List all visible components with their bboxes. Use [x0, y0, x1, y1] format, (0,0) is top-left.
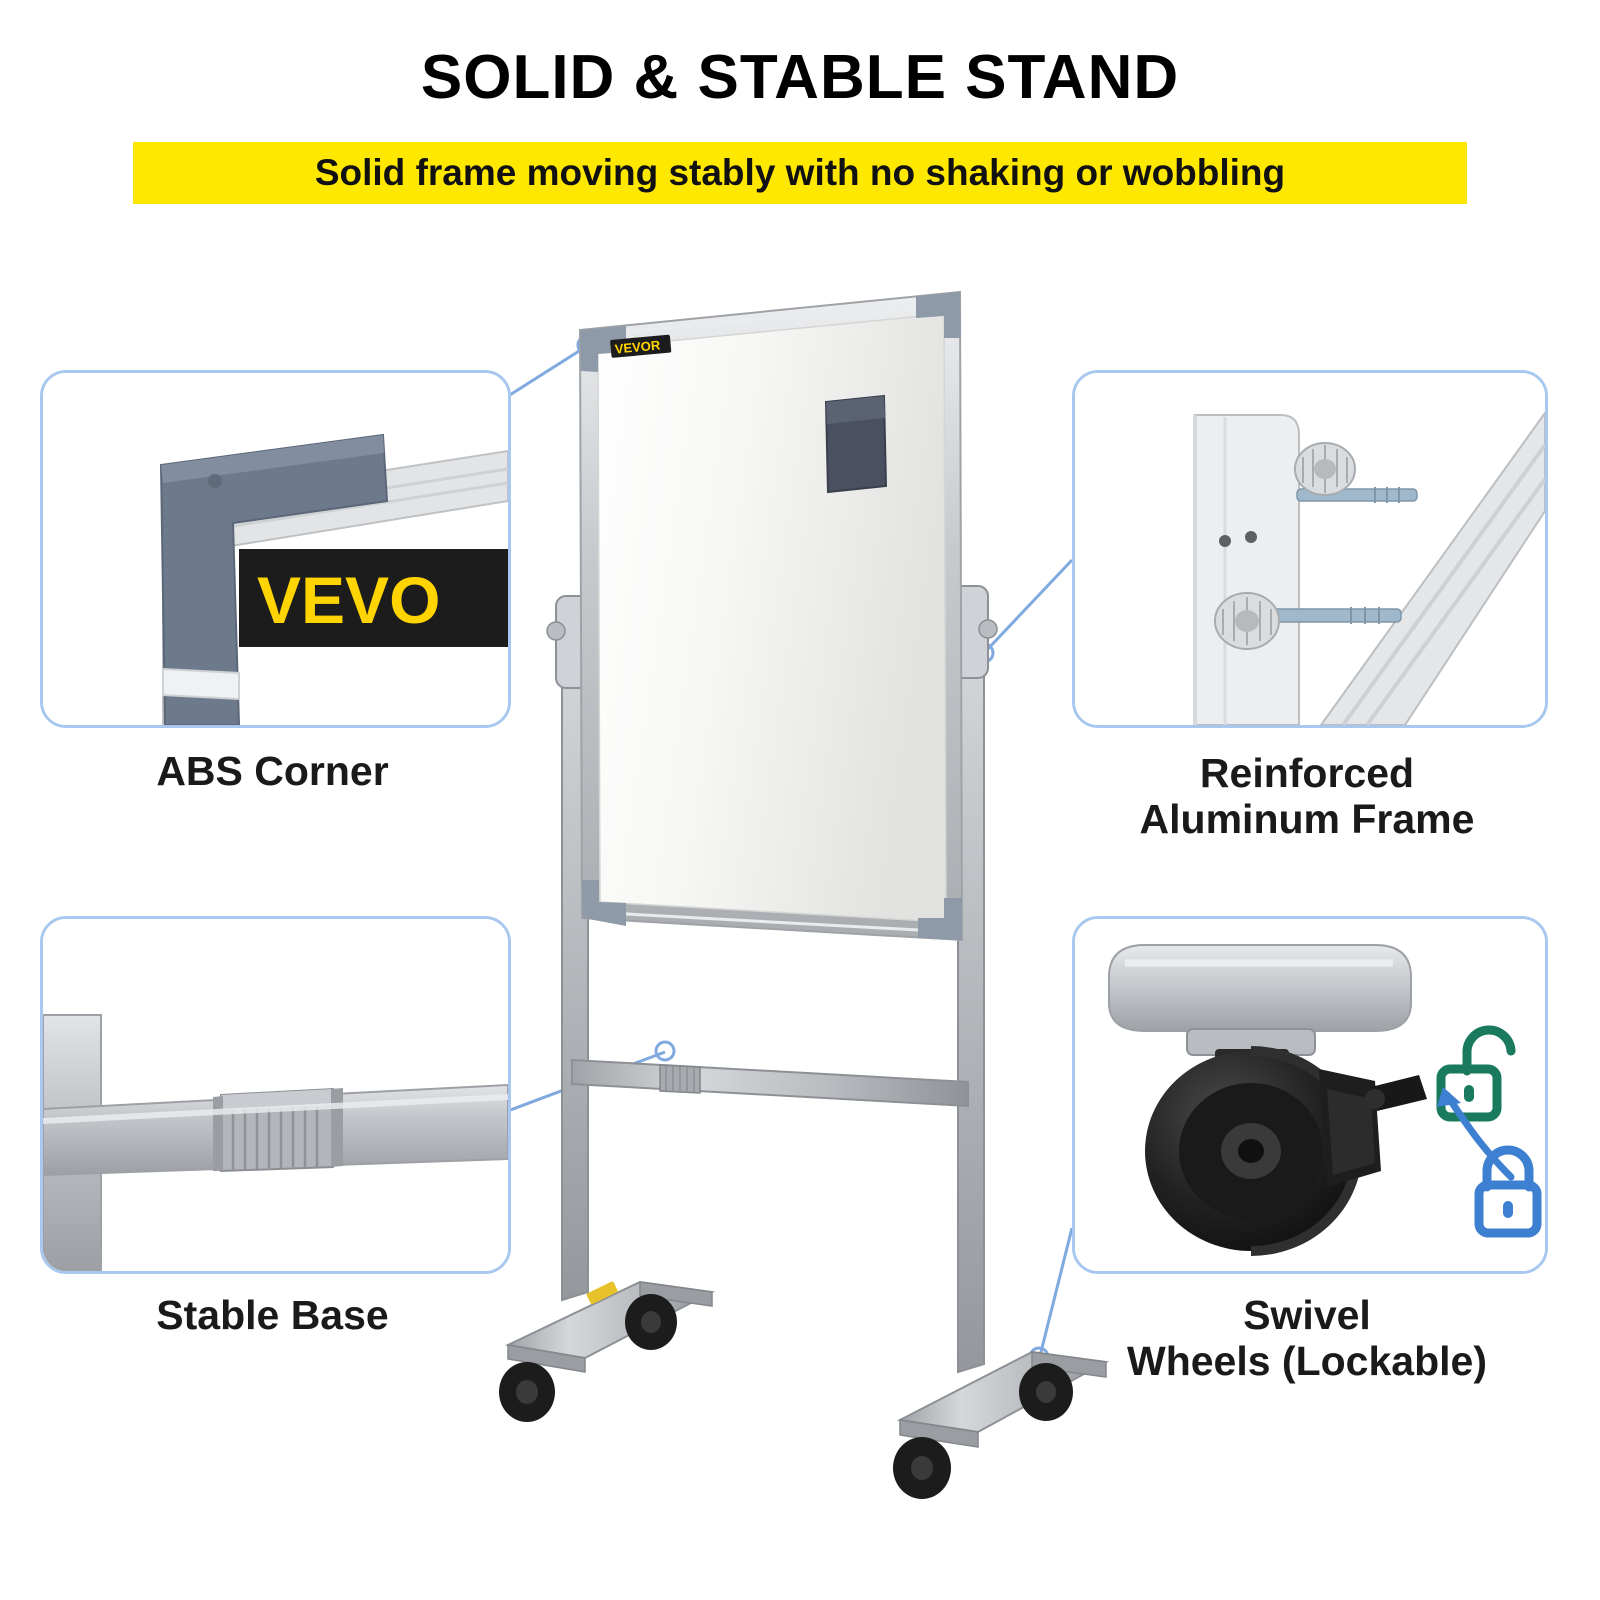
callout-label-abs-corner: ABS Corner [40, 748, 505, 794]
stable-base-detail-image [43, 919, 508, 1271]
callout-panel-aluminum-frame [1072, 370, 1548, 728]
callout-panel-abs-corner: VEVO VEVO [40, 370, 511, 728]
callout-label-aluminum-frame-line1: Reinforced [1032, 750, 1582, 796]
swivel-wheels-detail-image [1075, 919, 1545, 1271]
callout-label-swivel-wheels: Swivel Wheels (Lockable) [1032, 1292, 1582, 1385]
callout-label-stable-base: Stable Base [40, 1292, 505, 1338]
infographic-root: SOLID & STABLE STAND Solid frame moving … [0, 0, 1600, 1600]
callout-label-aluminum-frame: Reinforced Aluminum Frame [1032, 750, 1582, 843]
callout-label-swivel-wheels-line1: Swivel [1032, 1292, 1582, 1338]
callout-panel-stable-base [40, 916, 511, 1274]
callout-label-aluminum-frame-line2: Aluminum Frame [1032, 796, 1582, 842]
abs-corner-detail-image: VEVO [43, 373, 508, 725]
callout-label-swivel-wheels-line2: Wheels (Lockable) [1032, 1338, 1582, 1384]
svg-text:VEVO: VEVO [257, 563, 440, 637]
callout-panel-swivel-wheels [1072, 916, 1548, 1274]
aluminum-frame-detail-image [1075, 373, 1545, 725]
